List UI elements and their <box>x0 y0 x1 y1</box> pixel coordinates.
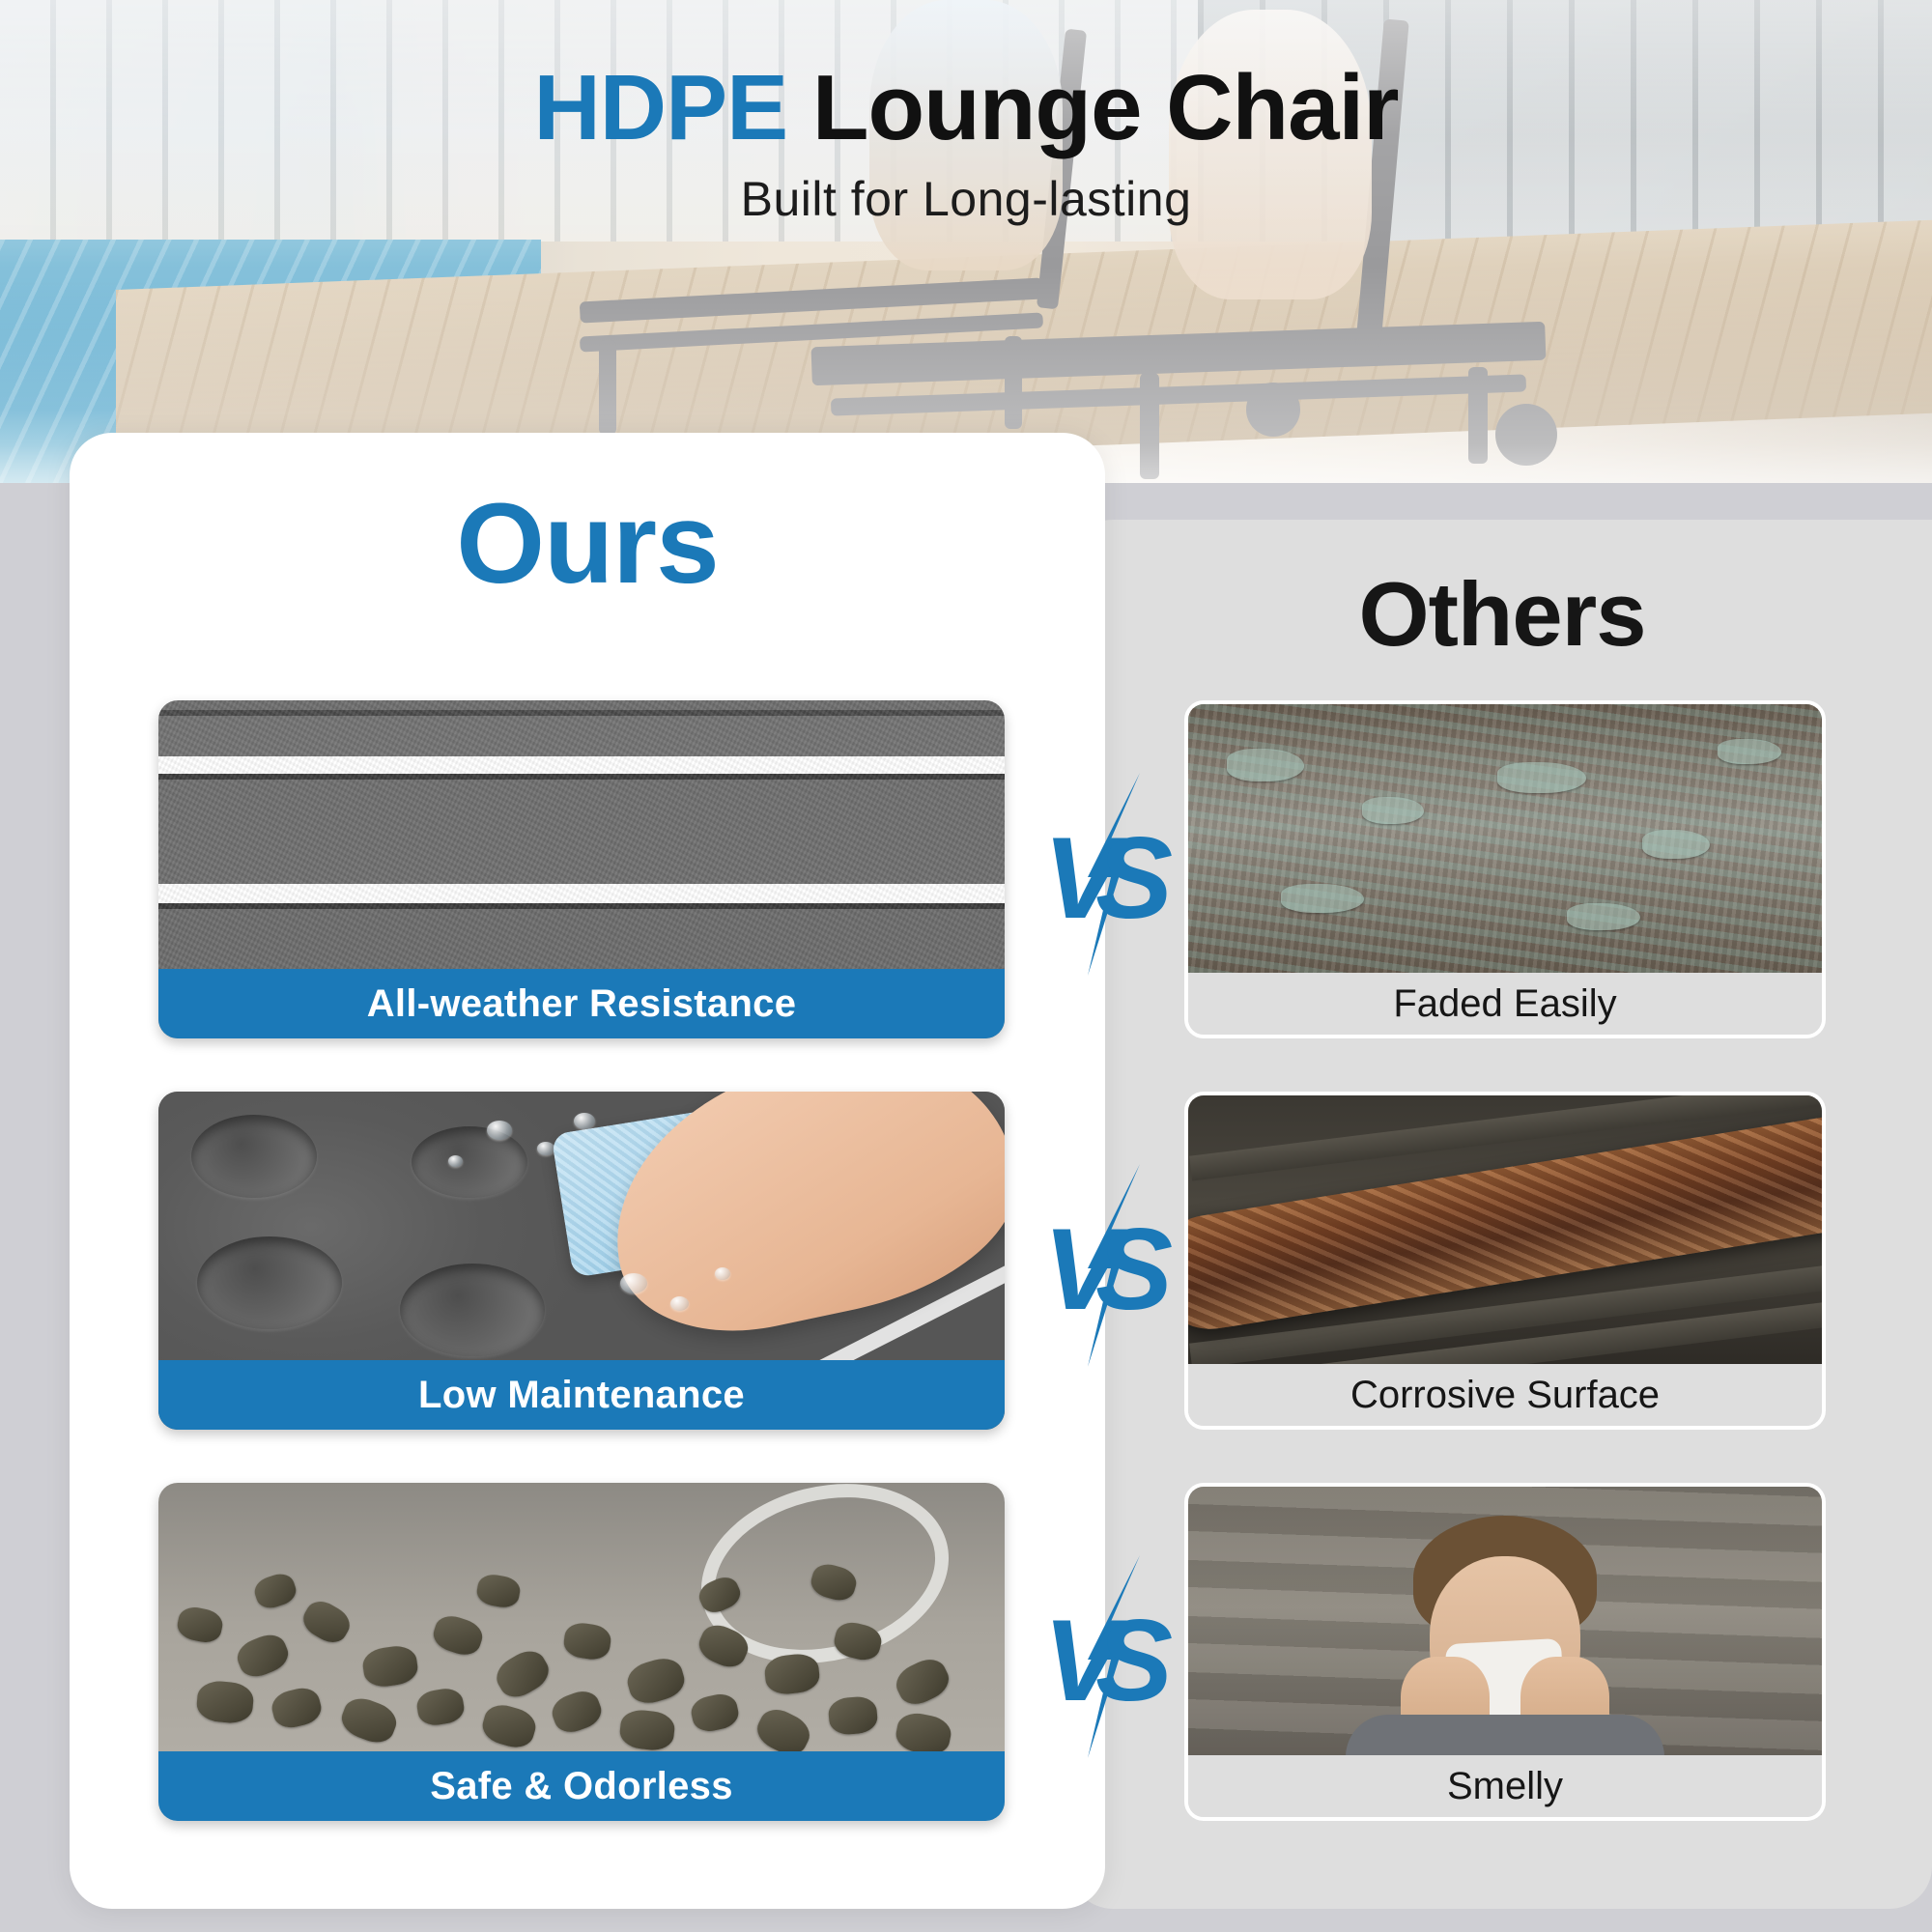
paint-flake <box>1567 903 1640 930</box>
others-card[interactable]: Smelly <box>1184 1483 1826 1821</box>
slat-hole-icon <box>400 1264 545 1356</box>
paint-flake <box>1227 749 1304 781</box>
vs-divider: V S <box>1039 1164 1175 1367</box>
others-card-caption: Smelly <box>1188 1755 1822 1817</box>
resin-pellet <box>337 1692 402 1747</box>
resin-pellet <box>298 1595 355 1648</box>
boy-shirt <box>1346 1715 1664 1755</box>
others-card[interactable]: Corrosive Surface <box>1184 1092 1826 1430</box>
ours-card-caption: Low Maintenance <box>158 1360 1005 1430</box>
water-droplet <box>574 1113 595 1129</box>
slat-hole-icon <box>412 1126 527 1198</box>
resin-pellet <box>475 1572 523 1609</box>
vs-divider: V S <box>1039 773 1175 976</box>
water-droplet <box>715 1267 730 1280</box>
page-title-highlight: HDPE <box>533 56 787 159</box>
svg-text:S: S <box>1095 813 1173 943</box>
resin-pellet <box>548 1687 606 1738</box>
resin-pellet <box>891 1653 954 1711</box>
header-block: HDPE Lounge Chair Built for Long-lasting <box>0 60 1932 227</box>
paint-flake <box>1642 830 1710 859</box>
ours-card-caption: All-weather Resistance <box>158 969 1005 1038</box>
ours-card-caption: Safe & Odorless <box>158 1751 1005 1821</box>
water-droplet <box>448 1155 463 1167</box>
resin-pellet <box>827 1695 878 1736</box>
resin-pellet <box>623 1654 688 1708</box>
resin-pellet <box>195 1680 254 1725</box>
resin-pellet <box>414 1686 466 1727</box>
paint-flake <box>1362 797 1424 824</box>
slat-hole-icon <box>197 1236 342 1329</box>
others-card[interactable]: Faded Easily <box>1184 700 1826 1038</box>
resin-pellet <box>233 1630 293 1683</box>
vs-lightning-icon: V S <box>1039 1555 1175 1758</box>
resin-pellet <box>562 1621 613 1662</box>
paint-flake <box>1281 884 1364 913</box>
ours-card[interactable]: All-weather Resistance <box>158 700 1005 1038</box>
paint-flake <box>1718 739 1781 764</box>
resin-pellet <box>175 1605 225 1646</box>
page-title-rest: Lounge Chair <box>787 56 1398 159</box>
water-droplet <box>670 1296 689 1311</box>
paint-flake <box>1497 762 1586 793</box>
ours-column-heading: Ours <box>70 478 1105 610</box>
water-droplet <box>537 1142 554 1155</box>
water-droplet <box>487 1121 512 1140</box>
faded-wood-image <box>1188 704 1822 973</box>
rusty-bar-image <box>1188 1095 1822 1364</box>
resin-pellet <box>491 1644 555 1704</box>
resin-pellet <box>430 1611 487 1660</box>
ours-card[interactable]: Low Maintenance <box>158 1092 1005 1430</box>
vs-lightning-icon: V S <box>1039 1164 1175 1367</box>
svg-text:S: S <box>1095 1205 1173 1334</box>
others-card-caption: Corrosive Surface <box>1188 1364 1822 1426</box>
resin-pellet <box>360 1643 419 1689</box>
resin-pellet <box>479 1700 540 1751</box>
resin-pellet <box>618 1708 676 1752</box>
svg-text:S: S <box>1095 1596 1173 1725</box>
water-droplet <box>620 1273 647 1293</box>
others-card-caption: Faded Easily <box>1188 973 1822 1035</box>
resin-pellet <box>689 1690 741 1734</box>
vs-lightning-icon: V S <box>1039 773 1175 976</box>
others-column-heading: Others <box>1111 562 1893 667</box>
resin-pellet <box>269 1685 325 1732</box>
ours-card[interactable]: Safe & Odorless <box>158 1483 1005 1821</box>
page-title: HDPE Lounge Chair <box>0 60 1932 157</box>
slat-hole-icon <box>191 1115 317 1198</box>
vs-divider: V S <box>1039 1555 1175 1758</box>
page-subtitle: Built for Long-lasting <box>0 171 1932 227</box>
boy-covering-nose-image <box>1188 1487 1822 1755</box>
resin-pellet <box>251 1570 299 1611</box>
